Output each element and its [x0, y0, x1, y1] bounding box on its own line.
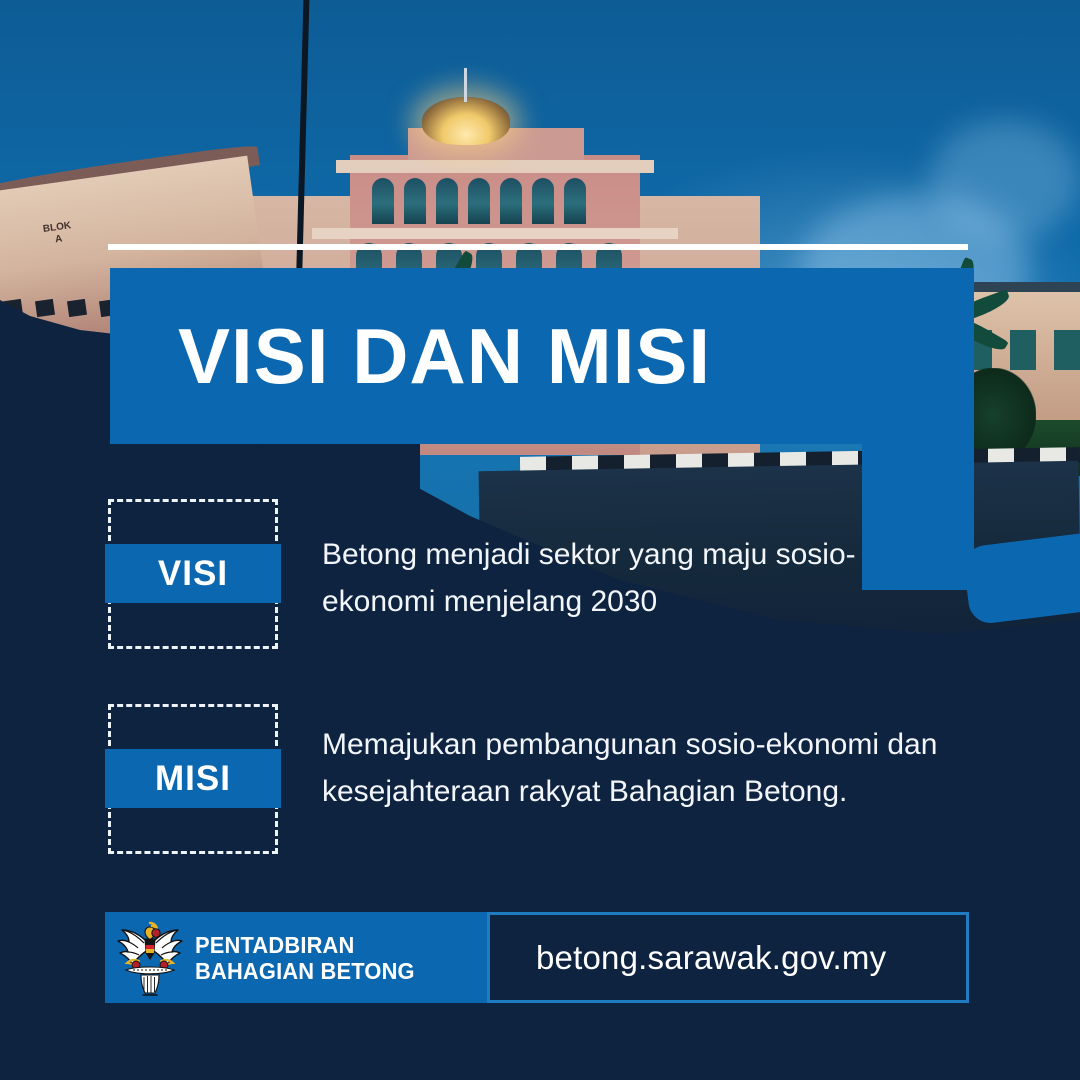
poster-canvas: KOMPLEKS PEJABAT BLOK A [0, 0, 1080, 1080]
window-arch [564, 178, 586, 224]
visi-text: Betong menjadi sektor yang maju sosio-ek… [322, 531, 942, 625]
window-arch [500, 178, 522, 224]
blok-a-label-line2: A [54, 233, 63, 245]
right-building-window [1010, 330, 1036, 370]
building-dome [422, 97, 510, 145]
visi-tag: VISI [105, 544, 281, 603]
misi-text: Memajukan pembangunan sosio-ekonomi dan … [322, 721, 942, 815]
footer-brand: PENTADBIRAN BAHAGIAN BETONG [105, 912, 487, 1003]
sarawak-coat-of-arms-icon [117, 919, 183, 997]
building-spire [464, 68, 467, 102]
footer-bar: PENTADBIRAN BAHAGIAN BETONG betong.saraw… [105, 912, 969, 1003]
window-arch [404, 178, 426, 224]
window-arch [436, 178, 458, 224]
title-card: VISI DAN MISI [110, 268, 970, 444]
blok-a-window [67, 299, 87, 317]
cloud [930, 120, 1080, 240]
window-arch [468, 178, 490, 224]
website-panel[interactable]: betong.sarawak.gov.my [487, 912, 969, 1003]
footer-org-line2: BAHAGIAN BETONG [195, 958, 415, 984]
building-cornice [312, 228, 678, 239]
header-rule [108, 244, 968, 250]
footer-org-line1: PENTADBIRAN [195, 932, 354, 958]
page-title: VISI DAN MISI [110, 317, 711, 395]
building-cornice [336, 160, 654, 173]
window-arch [372, 178, 394, 224]
misi-tag: MISI [105, 749, 281, 808]
footer-org-name: PENTADBIRAN BAHAGIAN BETONG [195, 932, 415, 984]
website-url[interactable]: betong.sarawak.gov.my [536, 939, 886, 977]
window-arch [532, 178, 554, 224]
right-building-window [1054, 330, 1080, 370]
blok-a-window [35, 299, 55, 317]
blok-a-label-line1: BLOK [42, 220, 72, 235]
